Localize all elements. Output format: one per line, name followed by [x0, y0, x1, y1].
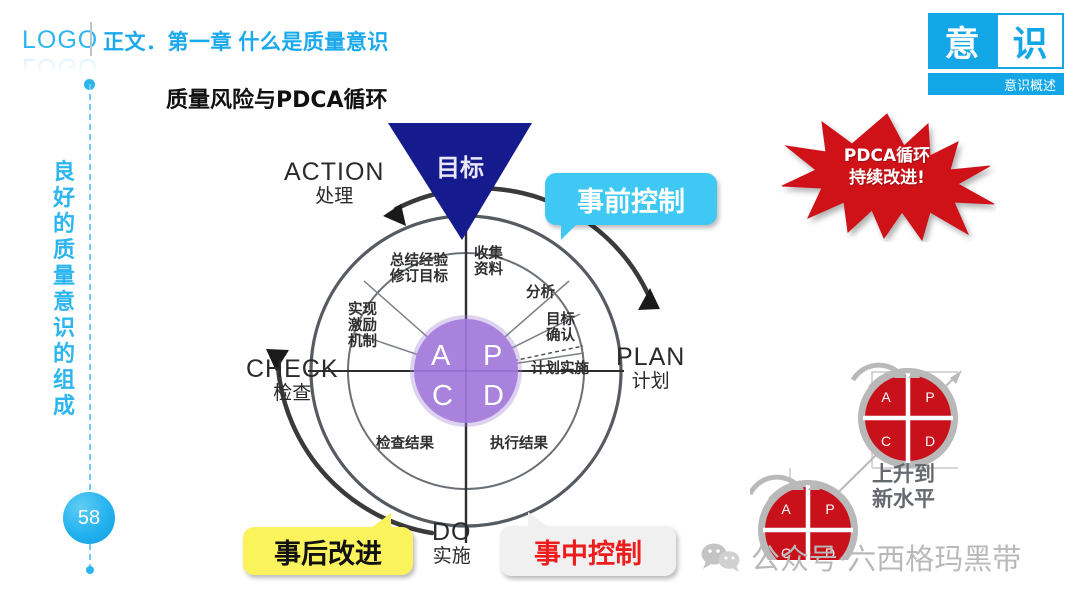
inner-label-collect-line1: 收集: [474, 246, 503, 262]
page-number-badge: 58: [63, 492, 115, 544]
wheel-label-do-en: DO: [432, 518, 472, 546]
spiral-label-line-1: 上升到: [872, 462, 935, 487]
center-letter-a: A: [431, 340, 450, 373]
starburst-line-2: 持续改进!: [778, 167, 996, 189]
svg-text:D: D: [925, 433, 935, 449]
svg-text:P: P: [925, 389, 934, 405]
inner-label-confirm-line1: 目标: [546, 312, 575, 328]
callout-in-control[interactable]: 事中控制: [500, 526, 676, 576]
sidebar-char: 量: [50, 264, 78, 290]
header-title: 正文．第一章 什么是质量意识: [103, 26, 389, 56]
badge-char-1: 意: [928, 13, 996, 69]
inner-label-confirm: 目标 确认: [546, 312, 575, 344]
inner-label-check-result: 检查结果: [376, 436, 434, 452]
badge-main: 意 识: [928, 13, 1064, 69]
inner-label-analyze: 分析: [526, 285, 555, 301]
badge-subtitle: 意识概述: [928, 73, 1064, 95]
ascending-pdca-diagram: A P C D A P C D 上升到 新: [750, 350, 1080, 560]
inner-label-summarize-line1: 总结经验: [390, 253, 448, 269]
wheel-label-check-cn: 检查: [246, 383, 339, 404]
sidebar-char: 识: [50, 316, 78, 342]
section-badge: 意 识 意识概述: [928, 13, 1064, 95]
center-letter-d: D: [483, 380, 504, 413]
spiral-label: 上升到 新水平: [872, 462, 935, 512]
sidebar-char: 组: [50, 368, 78, 394]
svg-text:P: P: [825, 501, 834, 517]
spiral-label-line-2: 新水平: [872, 487, 935, 512]
inner-label-collect: 收集 资料: [474, 246, 503, 278]
logo: LOGO: [22, 26, 98, 55]
sidebar-char: 良: [50, 160, 78, 186]
watermark: 公众号·六西格玛黑带: [700, 536, 1021, 578]
center-letter-p: P: [483, 340, 502, 373]
sidebar-dot-bottom: [86, 566, 94, 574]
starburst-line-1: PDCA循环: [778, 145, 996, 167]
slide-canvas: LOGO LOGO 正文．第一章 什么是质量意识 意 识 意识概述 良 好 的 …: [0, 0, 1080, 608]
callout-post-improve[interactable]: 事后改进: [243, 527, 413, 575]
sidebar-char: 的: [50, 342, 78, 368]
svg-text:A: A: [781, 501, 791, 517]
starburst-callout: PDCA循环 持续改进!: [778, 112, 996, 242]
sidebar-char: 质: [50, 238, 78, 264]
inner-label-plan-exec: 计划实施: [531, 361, 589, 377]
sidebar-char: 的: [50, 212, 78, 238]
logo-reflection: LOGO: [22, 52, 98, 81]
inner-label-motivate-line1: 实现: [348, 302, 377, 318]
wheel-label-action: ACTION 处理: [284, 158, 384, 207]
inner-label-confirm-line2: 确认: [546, 328, 575, 344]
inner-label-motivate-line2: 激励: [348, 318, 377, 334]
callout-pre-control[interactable]: 事前控制: [545, 173, 717, 225]
badge-char-2: 识: [996, 13, 1064, 69]
inner-label-collect-line2: 资料: [474, 262, 503, 278]
wheel-label-plan: PLAN 计划: [616, 343, 685, 392]
wheel-label-plan-cn: 计划: [616, 371, 685, 392]
wheel-label-plan-en: PLAN: [616, 343, 685, 371]
wheel-label-action-cn: 处理: [284, 186, 384, 207]
inner-label-motivate: 实现 激励 机制: [348, 302, 377, 351]
sidebar-char: 好: [50, 186, 78, 212]
wheel-label-check: CHECK 检查: [246, 355, 339, 404]
inner-label-do-result: 执行结果: [490, 436, 548, 452]
svg-text:A: A: [881, 389, 891, 405]
wheel-target-label: 目标: [418, 148, 502, 183]
center-letter-c: C: [432, 380, 453, 413]
wheel-label-action-en: ACTION: [284, 158, 384, 186]
header-divider: [90, 22, 92, 56]
ascending-pdca-svg: A P C D A P C D: [750, 350, 1080, 560]
inner-label-summarize-line2: 修订目标: [390, 269, 448, 285]
sidebar-vertical-title: 良 好 的 质 量 意 识 的 组 成: [50, 160, 78, 420]
sidebar-char: 成: [50, 394, 78, 420]
wheel-label-do-cn: 实施: [432, 546, 472, 567]
wechat-icon: [700, 542, 742, 572]
sidebar-char: 意: [50, 290, 78, 316]
watermark-text: 公众号·六西格玛黑带: [751, 536, 1021, 578]
wechat-icon-svg: [700, 542, 742, 572]
starburst-text: PDCA循环 持续改进!: [778, 145, 996, 190]
svg-text:C: C: [881, 433, 891, 449]
wheel-label-check-en: CHECK: [246, 355, 339, 383]
inner-label-motivate-line3: 机制: [348, 334, 377, 350]
wheel-label-do: DO 实施: [432, 518, 472, 567]
page-title: 质量风险与PDCA循环: [166, 82, 388, 114]
inner-label-summarize: 总结经验 修订目标: [390, 253, 448, 285]
